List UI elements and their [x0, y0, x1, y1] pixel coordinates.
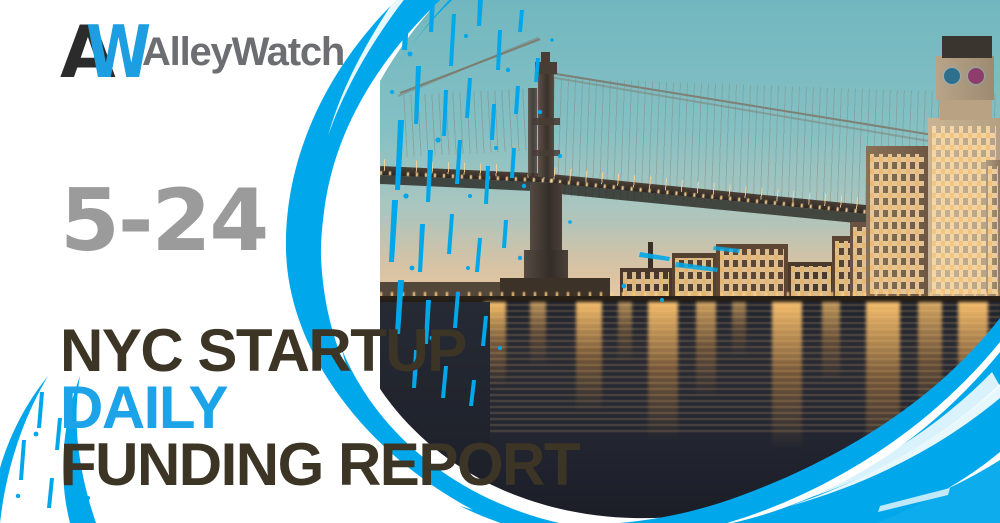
logo-letter-w: W [86, 22, 148, 82]
clock-face [944, 68, 960, 84]
alleywatch-logo[interactable]: A W AlleyWatch [60, 22, 344, 82]
building-windows [870, 154, 924, 294]
clock-face [968, 68, 984, 84]
building-windows [675, 258, 713, 296]
bridge-cable [398, 37, 539, 97]
clocktower-roof [942, 36, 992, 58]
logo-monogram-icon: A W [60, 22, 136, 82]
clocktower-top [936, 56, 994, 100]
bridge-tower-crossbeam [532, 150, 560, 156]
logo-wordmark: AlleyWatch [142, 30, 344, 75]
bridge-tower-shaft [528, 88, 537, 176]
date-label: 5-24 [60, 178, 267, 264]
alleywatch-funding-report-graphic: A W AlleyWatch 5-24 NYC STARTUP DAILY FU… [0, 0, 1000, 523]
building-windows [988, 166, 998, 294]
bridge-tower-crossbeam [532, 118, 560, 125]
headline-line-1: NYC STARTUP [60, 322, 579, 379]
headline-line-3: FUNDING REPORT [60, 436, 579, 493]
headline-block: NYC STARTUP DAILY FUNDING REPORT [60, 322, 579, 493]
building [986, 160, 1000, 300]
headline-line-2: DAILY [60, 379, 579, 436]
bridge-tower-finial [541, 52, 550, 64]
building-windows [720, 249, 784, 296]
building-masonry-left [866, 146, 928, 300]
